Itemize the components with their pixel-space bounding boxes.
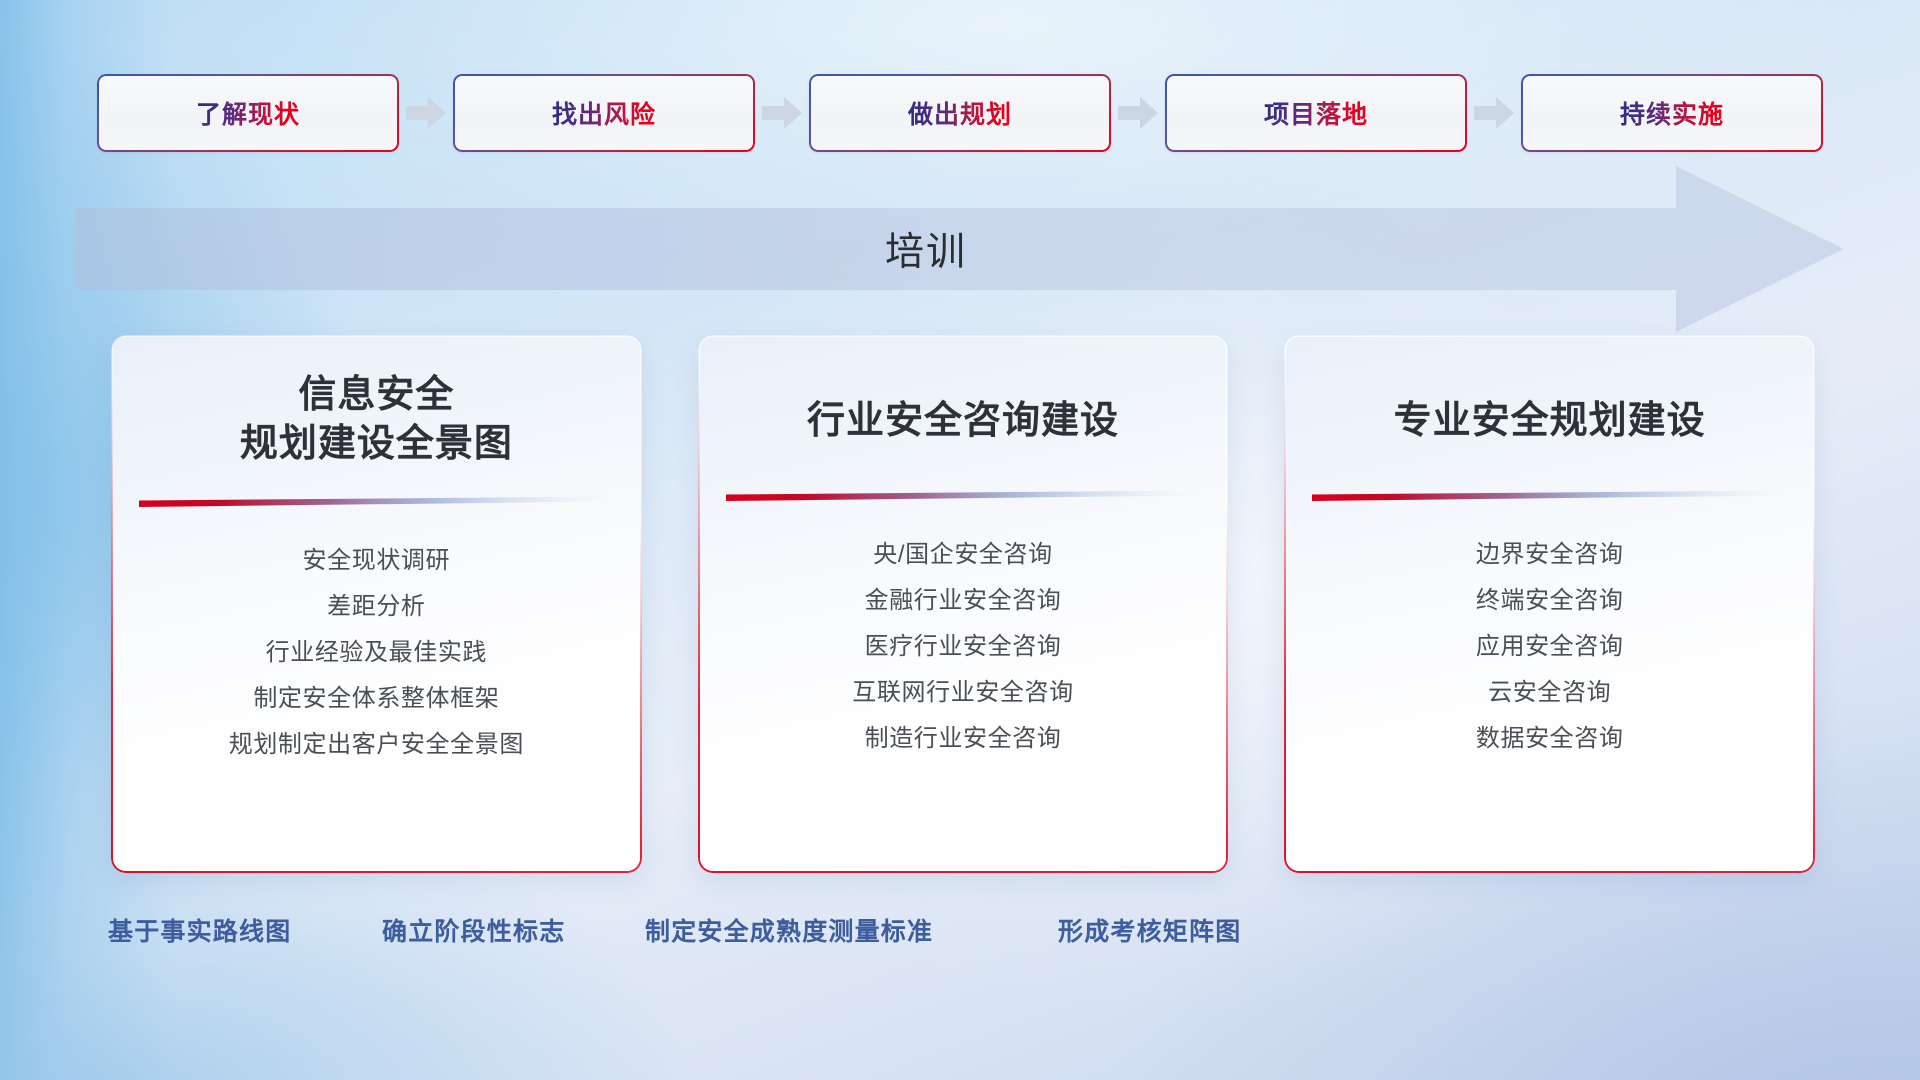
list-item: 互联网行业安全咨询 [726,670,1201,716]
list-item: 数据安全咨询 [1312,716,1787,762]
card-3-title: 专业安全规划建设 [1394,397,1706,446]
list-item: 差距分析 [139,584,614,630]
caption-4: 形成考核矩阵图 [1058,912,1241,948]
step-label-4: 项目落地 [1264,95,1368,131]
card-3-title-line-1: 专业安全规划建设 [1394,397,1706,446]
card-1-list: 安全现状调研 差距分析 行业经验及最佳实践 制定安全体系整体框架 规划制定出客户… [139,538,614,768]
card-2-list: 央/国企安全咨询 金融行业安全咨询 医疗行业安全咨询 互联网行业安全咨询 制造行… [726,532,1201,762]
step-label-5: 持续实施 [1620,95,1724,131]
flow-arrow-icon-4 [1467,74,1521,152]
list-item: 终端安全咨询 [1312,578,1787,624]
card-1-title-line-1: 信息安全 [240,371,513,420]
list-item: 安全现状调研 [139,538,614,584]
step-label-2: 找出风险 [552,95,656,131]
training-banner-label-wrap: 培训 [76,166,1776,332]
card-3-inner: 专业安全规划建设 [1286,337,1813,871]
card-information-security-blueprint[interactable]: 信息安全 规划建设全景图 [113,337,640,871]
card-professional-security-planning[interactable]: 专业安全规划建设 [1286,337,1813,871]
list-item: 行业经验及最佳实践 [139,630,614,676]
training-banner: 培训 [76,166,1844,332]
card-1-divider [139,496,614,508]
list-item: 央/国企安全咨询 [726,532,1201,578]
list-item: 制定安全体系整体框架 [139,676,614,722]
list-item: 医疗行业安全咨询 [726,624,1201,670]
step-box-3[interactable]: 做出规划 [809,74,1111,152]
process-step-flow: 了解现状 找出风险 做出规划 项目落地 [0,68,1920,158]
caption-row: 基于事实路线图 确立阶段性标志 制定安全成熟度测量标准 形成考核矩阵图 [0,912,1920,962]
flow-arrow-icon-3 [1111,74,1165,152]
card-1-inner: 信息安全 规划建设全景图 [113,337,640,871]
caption-2: 确立阶段性标志 [382,912,565,948]
card-3-divider [1312,490,1787,502]
step-box-5[interactable]: 持续实施 [1521,74,1823,152]
list-item: 规划制定出客户安全全景图 [139,722,614,768]
card-2-title-line-1: 行业安全咨询建设 [807,397,1119,446]
step-label-1: 了解现状 [196,95,300,131]
slide-canvas: 了解现状 找出风险 做出规划 项目落地 [0,0,1920,1080]
flow-arrow-icon-2 [755,74,809,152]
caption-1: 基于事实路线图 [108,912,291,948]
list-item: 制造行业安全咨询 [726,716,1201,762]
card-industry-security-consulting[interactable]: 行业安全咨询建设 [700,337,1227,871]
list-item: 云安全咨询 [1312,670,1787,716]
card-2-title: 行业安全咨询建设 [807,397,1119,446]
card-2-divider [726,490,1201,502]
card-1-title: 信息安全 规划建设全景图 [240,371,513,470]
cards-row: 信息安全 规划建设全景图 [113,337,1813,871]
step-box-4[interactable]: 项目落地 [1165,74,1467,152]
card-3-list: 边界安全咨询 终端安全咨询 应用安全咨询 云安全咨询 数据安全咨询 [1312,532,1787,762]
card-2-inner: 行业安全咨询建设 [700,337,1227,871]
list-item: 边界安全咨询 [1312,532,1787,578]
card-1-title-line-2: 规划建设全景图 [240,420,513,469]
caption-3: 制定安全成熟度测量标准 [645,912,933,948]
step-box-2[interactable]: 找出风险 [453,74,755,152]
flow-arrow-icon-1 [399,74,453,152]
training-banner-label: 培训 [885,221,967,277]
step-label-3: 做出规划 [908,95,1012,131]
list-item: 应用安全咨询 [1312,624,1787,670]
list-item: 金融行业安全咨询 [726,578,1201,624]
step-box-1[interactable]: 了解现状 [97,74,399,152]
